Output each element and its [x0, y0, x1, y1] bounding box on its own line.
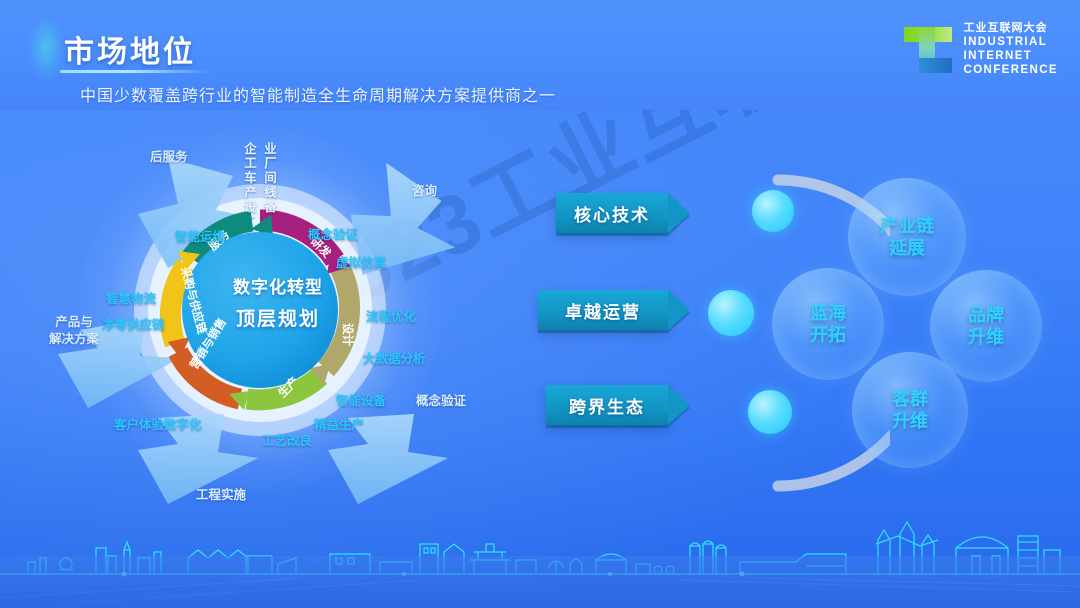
tag-operational-excellence[interactable]: 卓越运营: [538, 290, 690, 330]
wheel-label-客户体验数字化: 客户体验数字化: [114, 414, 202, 433]
tag-crossover-ecosystem-label: 跨界生态: [569, 393, 645, 418]
bubble-line2: 开拓: [810, 325, 846, 345]
wheel-center-line1: 数字化转型: [203, 273, 353, 298]
tag-arrow-tip-icon: [668, 193, 690, 233]
wheel-center-text: 数字化转型 顶层规划: [203, 273, 353, 331]
bookmark-glow-icon: [28, 20, 64, 82]
logo-en-3: CONFERENCE: [963, 63, 1058, 77]
outer-left-line2: 解决方案: [38, 331, 110, 348]
tag-crossover-ecosystem[interactable]: 跨界生态: [546, 385, 690, 425]
wheel-outer-label-咨询: 咨询: [412, 180, 437, 199]
title-underline: [60, 70, 212, 73]
industrial-city-skyline: [0, 500, 1080, 608]
wheel-label-概念验证-top: 概念验证: [308, 224, 358, 243]
t-letter-logo-icon: [902, 24, 954, 76]
wheel-label-智慧物流: 智慧物流: [106, 288, 156, 307]
arc-dot-3[interactable]: [748, 390, 792, 434]
bubble-industry-chain[interactable]: 产业链 延展: [848, 178, 966, 296]
wheel-label-大数据分析: 大数据分析: [363, 348, 426, 367]
logo-cn: 工业互联网大会: [963, 22, 1058, 35]
tag-operational-excellence-label: 卓越运营: [565, 298, 641, 323]
logo-en-1: INDUSTRIAL: [963, 35, 1058, 49]
wheel-label-净零供应链: 净零供应链: [102, 314, 165, 333]
page-title: 市场地位: [64, 27, 196, 71]
bubble-brand-upgrade-text: 品牌 升维: [968, 304, 1004, 349]
logo-en-2: INTERNET: [963, 49, 1058, 63]
tag-core-technology[interactable]: 核心技术: [556, 193, 690, 233]
tag-core-technology-label: 核心技术: [574, 201, 650, 226]
skyline-ground: [0, 556, 1080, 608]
wheel-outer-label-产品与解决方案: 产品与 解决方案: [38, 314, 110, 348]
vertical-label-col-a: 企工车产设: [240, 142, 259, 215]
bubble-customer-upgrade-text: 客群 升维: [892, 388, 928, 433]
conference-logo: 工业互联网大会 INDUSTRIAL INTERNET CONFERENCE: [902, 22, 1058, 77]
wheel-center-line2: 顶层规划: [203, 304, 353, 331]
wheel-outer-label-后服务: 后服务: [150, 146, 188, 165]
wheel-label-智能运维: 智能运维: [175, 226, 225, 245]
bubble-line2: 延展: [889, 238, 925, 258]
tag-arrow-tip-icon: [668, 290, 690, 330]
wheel-label-精益生产: 精益生产: [314, 414, 364, 433]
arc-dot-2[interactable]: [708, 290, 754, 336]
bubble-customer-upgrade[interactable]: 客群 升维: [852, 352, 968, 468]
outer-left-line1: 产品与: [38, 314, 110, 331]
bubble-line1: 蓝海: [810, 303, 846, 323]
vertical-label-enterprise: 企工车产设 业厂间线备: [240, 142, 279, 215]
slide-root: 2023工业互联网大会 市场地位 中国少数覆盖跨行业的智能制造全生命周期解决方案…: [0, 0, 1080, 608]
bubble-line1: 产业链: [880, 216, 934, 236]
wheel-label-工艺改良: 工艺改良: [262, 430, 312, 449]
tag-arrow-tip-icon: [668, 385, 690, 425]
logo-text: 工业互联网大会 INDUSTRIAL INTERNET CONFERENCE: [963, 22, 1058, 77]
bubble-industry-chain-text: 产业链 延展: [880, 215, 934, 260]
bubble-line2: 升维: [892, 411, 928, 431]
lifecycle-wheel-diagram: 研发 设计 生产 营销与销售 采购与供应链 服务 数字化转型 顶层规划 企工车产…: [18, 118, 538, 518]
bubble-line2: 升维: [968, 327, 1004, 347]
bubble-blue-ocean-text: 蓝海 开拓: [810, 302, 846, 347]
wheel-outer-label-概念验证: 概念验证: [416, 390, 466, 409]
bubble-line1: 品牌: [968, 305, 1004, 325]
bubble-line1: 客群: [892, 389, 928, 409]
wheel-label-流程优化: 流程优化: [366, 306, 416, 325]
bubble-blue-ocean[interactable]: 蓝海 开拓: [772, 268, 884, 380]
arc-dot-1[interactable]: [752, 190, 794, 232]
page-subtitle: 中国少数覆盖跨行业的智能制造全生命周期解决方案提供商之一: [80, 82, 556, 106]
vertical-label-col-b: 业厂间线备: [260, 142, 279, 215]
wheel-label-智能设备: 智能设备: [336, 390, 386, 409]
wheel-label-虚拟仿真: 虚拟仿真: [336, 252, 386, 271]
